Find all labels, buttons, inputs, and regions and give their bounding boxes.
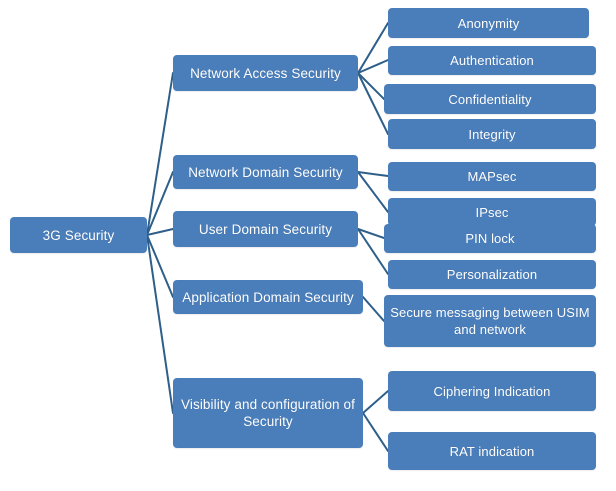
node-label-pin-lock: PIN lock	[390, 230, 590, 247]
node-label-ciphering-indication: Ciphering Indication	[394, 383, 590, 400]
edge-nas-confidentiality	[358, 73, 384, 99]
node-personalization[interactable]: Personalization	[388, 260, 596, 289]
node-label-personalization: Personalization	[394, 266, 590, 283]
diagram-canvas: 3G SecurityNetwork Access SecurityNetwor…	[0, 0, 616, 491]
node-label-ipsec: IPsec	[394, 204, 590, 221]
node-label-visibility-and-configuration: Visibility and configuration of Security	[179, 396, 357, 430]
node-label-root: 3G Security	[16, 227, 141, 244]
edge-root-vis	[147, 235, 173, 413]
node-visibility-and-configuration[interactable]: Visibility and configuration of Security	[173, 378, 363, 448]
edge-ads-secure-messaging	[363, 297, 384, 321]
node-label-authentication: Authentication	[394, 52, 590, 69]
edge-nds-ipsec	[358, 172, 388, 212]
node-mapsec[interactable]: MAPsec	[388, 162, 596, 191]
edge-nds-mapsec	[358, 172, 388, 176]
node-label-user-domain-security: User Domain Security	[179, 221, 352, 238]
node-label-mapsec: MAPsec	[394, 168, 590, 185]
node-user-domain-security[interactable]: User Domain Security	[173, 211, 358, 247]
node-application-domain-security[interactable]: Application Domain Security	[173, 280, 363, 314]
node-secure-messaging[interactable]: Secure messaging between USIM and networ…	[384, 295, 596, 347]
node-integrity[interactable]: Integrity	[388, 119, 596, 149]
edge-vis-ciphering	[363, 391, 388, 413]
node-label-secure-messaging: Secure messaging between USIM and networ…	[390, 304, 590, 338]
node-label-rat-indication: RAT indication	[394, 443, 590, 460]
node-label-integrity: Integrity	[394, 126, 590, 143]
edge-nas-authentication	[358, 60, 388, 73]
node-label-confidentiality: Confidentiality	[390, 91, 590, 108]
edge-vis-rat	[363, 413, 388, 451]
node-anonymity[interactable]: Anonymity	[388, 8, 589, 38]
node-root[interactable]: 3G Security	[10, 217, 147, 253]
edge-nas-anonymity	[358, 23, 388, 73]
node-confidentiality[interactable]: Confidentiality	[384, 84, 596, 114]
node-authentication[interactable]: Authentication	[388, 46, 596, 75]
node-network-domain-security[interactable]: Network Domain Security	[173, 155, 358, 189]
node-label-network-domain-security: Network Domain Security	[179, 164, 352, 181]
edge-root-ads	[147, 235, 173, 297]
node-ciphering-indication[interactable]: Ciphering Indication	[388, 371, 596, 411]
edge-root-uds	[147, 229, 173, 235]
node-pin-lock[interactable]: PIN lock	[384, 224, 596, 253]
node-ipsec[interactable]: IPsec	[388, 198, 596, 226]
node-label-application-domain-security: Application Domain Security	[179, 289, 357, 306]
node-label-anonymity: Anonymity	[394, 15, 583, 32]
edge-uds-pinlock	[358, 229, 384, 238]
node-network-access-security[interactable]: Network Access Security	[173, 55, 358, 91]
node-rat-indication[interactable]: RAT indication	[388, 432, 596, 470]
node-label-network-access-security: Network Access Security	[179, 65, 352, 82]
edge-root-nas	[147, 73, 173, 235]
edge-root-nds	[147, 172, 173, 235]
